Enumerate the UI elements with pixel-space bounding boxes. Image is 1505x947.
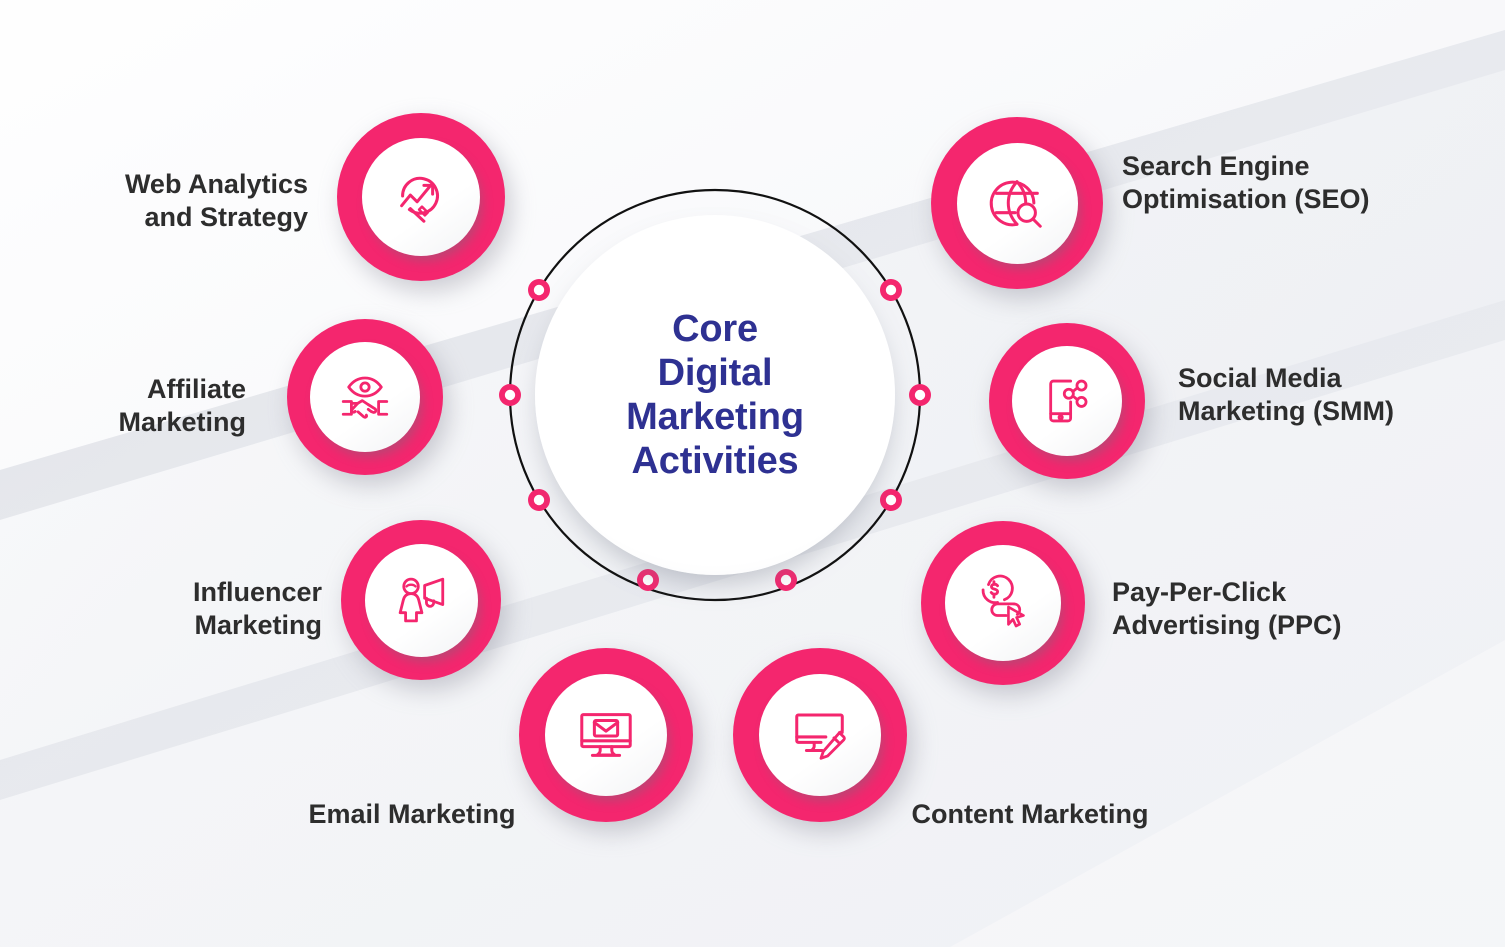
orbit-marker-4 [775, 569, 797, 591]
node-ppc[interactable] [921, 521, 1085, 685]
orbit-marker-6 [528, 489, 550, 511]
orbit-marker-8-core [534, 285, 544, 295]
node-content-face [759, 674, 881, 796]
label-seo: Search Engine Optimisation (SEO) [1122, 150, 1432, 216]
infographic-stage: Core Digital Marketing Activities Web An… [0, 0, 1505, 947]
orbit-marker-2-core [915, 390, 925, 400]
dollar-cursor-icon [974, 574, 1032, 632]
node-affiliate-face [310, 342, 420, 452]
orbit-marker-8 [528, 279, 550, 301]
node-analytics[interactable] [337, 113, 505, 281]
node-ppc-face [945, 545, 1061, 661]
magnifier-trend-icon [390, 166, 452, 228]
orbit-marker-5-core [643, 575, 653, 585]
label-email: Email Marketing [262, 798, 562, 831]
node-email[interactable] [519, 648, 693, 822]
node-influencer-face [365, 544, 478, 657]
node-content[interactable] [733, 648, 907, 822]
label-analytics: Web Analytics and Strategy [60, 168, 308, 234]
mobile-share-icon [1038, 372, 1096, 430]
monitor-pencil-icon [789, 704, 851, 766]
label-ppc: Pay-Per-Click Advertising (PPC) [1112, 576, 1402, 642]
node-affiliate[interactable] [287, 319, 443, 475]
person-megaphone-icon [392, 571, 450, 629]
label-content: Content Marketing [880, 798, 1180, 831]
node-seo[interactable] [931, 117, 1103, 289]
node-smm-face [1012, 346, 1122, 456]
node-influencer[interactable] [341, 520, 501, 680]
globe-search-icon [986, 172, 1048, 234]
orbit-marker-4-core [781, 575, 791, 585]
orbit-marker-7-core [505, 390, 515, 400]
orbit-marker-3 [880, 489, 902, 511]
node-email-face [545, 674, 667, 796]
label-smm: Social Media Marketing (SMM) [1178, 362, 1478, 428]
orbit-marker-7 [499, 384, 521, 406]
orbit-marker-1-core [886, 285, 896, 295]
center-hub: Core Digital Marketing Activities [535, 215, 895, 575]
orbit-marker-5 [637, 569, 659, 591]
orbit-marker-1 [880, 279, 902, 301]
monitor-envelope-icon [575, 704, 637, 766]
orbit-marker-2 [909, 384, 931, 406]
node-seo-face [957, 143, 1078, 264]
eye-handshake-icon [336, 368, 394, 426]
label-influencer: Influencer Marketing [110, 576, 322, 642]
node-analytics-face [362, 138, 480, 256]
orbit-marker-6-core [534, 495, 544, 505]
label-affiliate: Affiliate Marketing [50, 373, 246, 439]
orbit-marker-3-core [886, 495, 896, 505]
hub-title: Core Digital Marketing Activities [626, 307, 804, 483]
node-smm[interactable] [989, 323, 1145, 479]
